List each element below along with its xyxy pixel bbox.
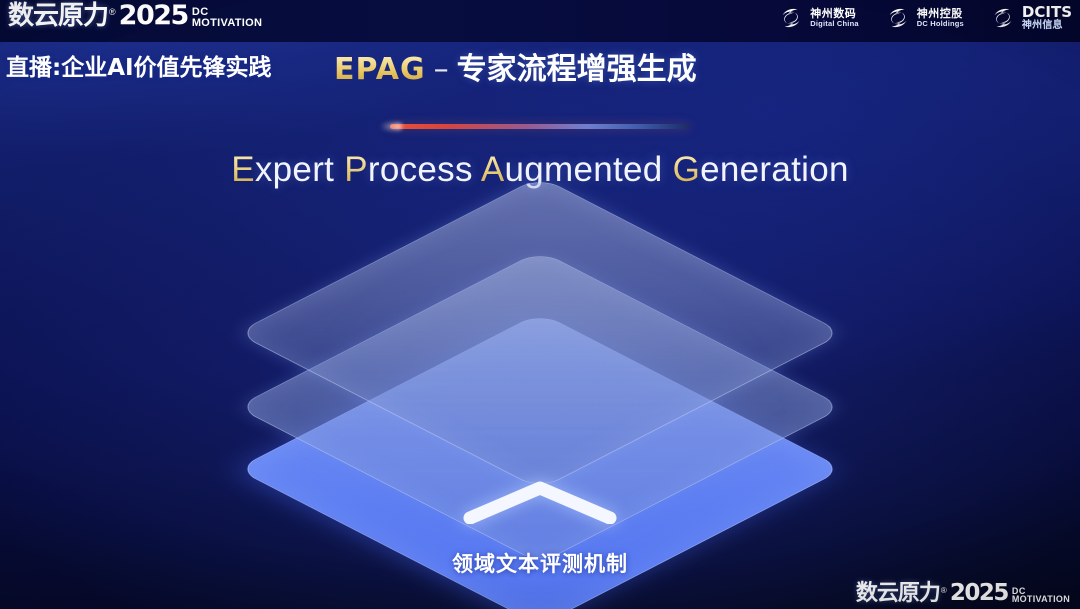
watermark-name-cn: 数云原力 [856,583,940,605]
partner-text: 神州数码 Digital China [810,8,858,27]
watermark-registered-mark: ® [941,587,947,595]
layered-stack-diagram: 领域文本评测机制 Dynamic MOE 长文本记忆 三类语义建模模块 [0,214,1080,584]
header-bar: 数云原力 ® 2025 DC MOTIVATION 神州数码 Digital C… [0,0,1080,42]
swirl-logo-icon [885,5,911,31]
slide-canvas: 数云原力 ® 2025 DC MOTIVATION 神州数码 Digital C… [0,0,1080,609]
brand-year: 2025 [119,2,188,29]
partner-name-cn: DCITS [1022,5,1072,21]
brand-logo: 数云原力 ® 2025 DC MOTIVATION [8,2,262,29]
brand-watermark: 数云原力 ® 2025 DC MOTIVATION [856,582,1070,605]
chevron-up-icon [462,478,618,524]
partner-name-en: 神州信息 [1022,21,1072,32]
watermark-year: 2025 [950,582,1008,605]
title-dash: – [426,52,457,87]
partner-logo-digital-china: 神州数码 Digital China [778,5,858,31]
brand-dc-label: DC [192,7,262,17]
partner-logos: 神州数码 Digital China 神州控股 DC Holdings [778,5,1072,31]
subtitle-part: E [231,150,255,189]
partner-logo-dcits: DCITS 神州信息 [990,5,1072,31]
partner-text: 神州控股 DC Holdings [917,8,964,27]
swirl-logo-icon [990,5,1016,31]
partner-text: DCITS 神州信息 [1022,5,1072,31]
brand-dc-motivation: DC MOTIVATION [192,7,262,28]
partner-name-en: Digital China [810,20,858,28]
brand-name-cn: 数云原力 [8,3,108,29]
title-acronym: EPAG [334,52,426,87]
watermark-motivation-label: MOTIVATION [1012,595,1070,604]
live-banner: 直播:企业AI价值先锋实践 [6,48,272,82]
stack-layer-top-label: 领域文本评测机制 [0,548,1080,578]
layer-face [236,176,844,489]
partner-logo-dc-holdings: 神州控股 DC Holdings [885,5,964,31]
partner-name-en: DC Holdings [917,20,964,28]
title-chinese: 专家流程增强生成 [457,52,697,87]
watermark-dc-motivation: DC MOTIVATION [1012,587,1070,604]
swirl-logo-icon [778,5,804,31]
brand-registered-mark: ® [109,8,116,17]
brand-motivation-label: MOTIVATION [192,18,262,28]
page-title: EPAG–专家流程增强生成 [334,52,697,88]
